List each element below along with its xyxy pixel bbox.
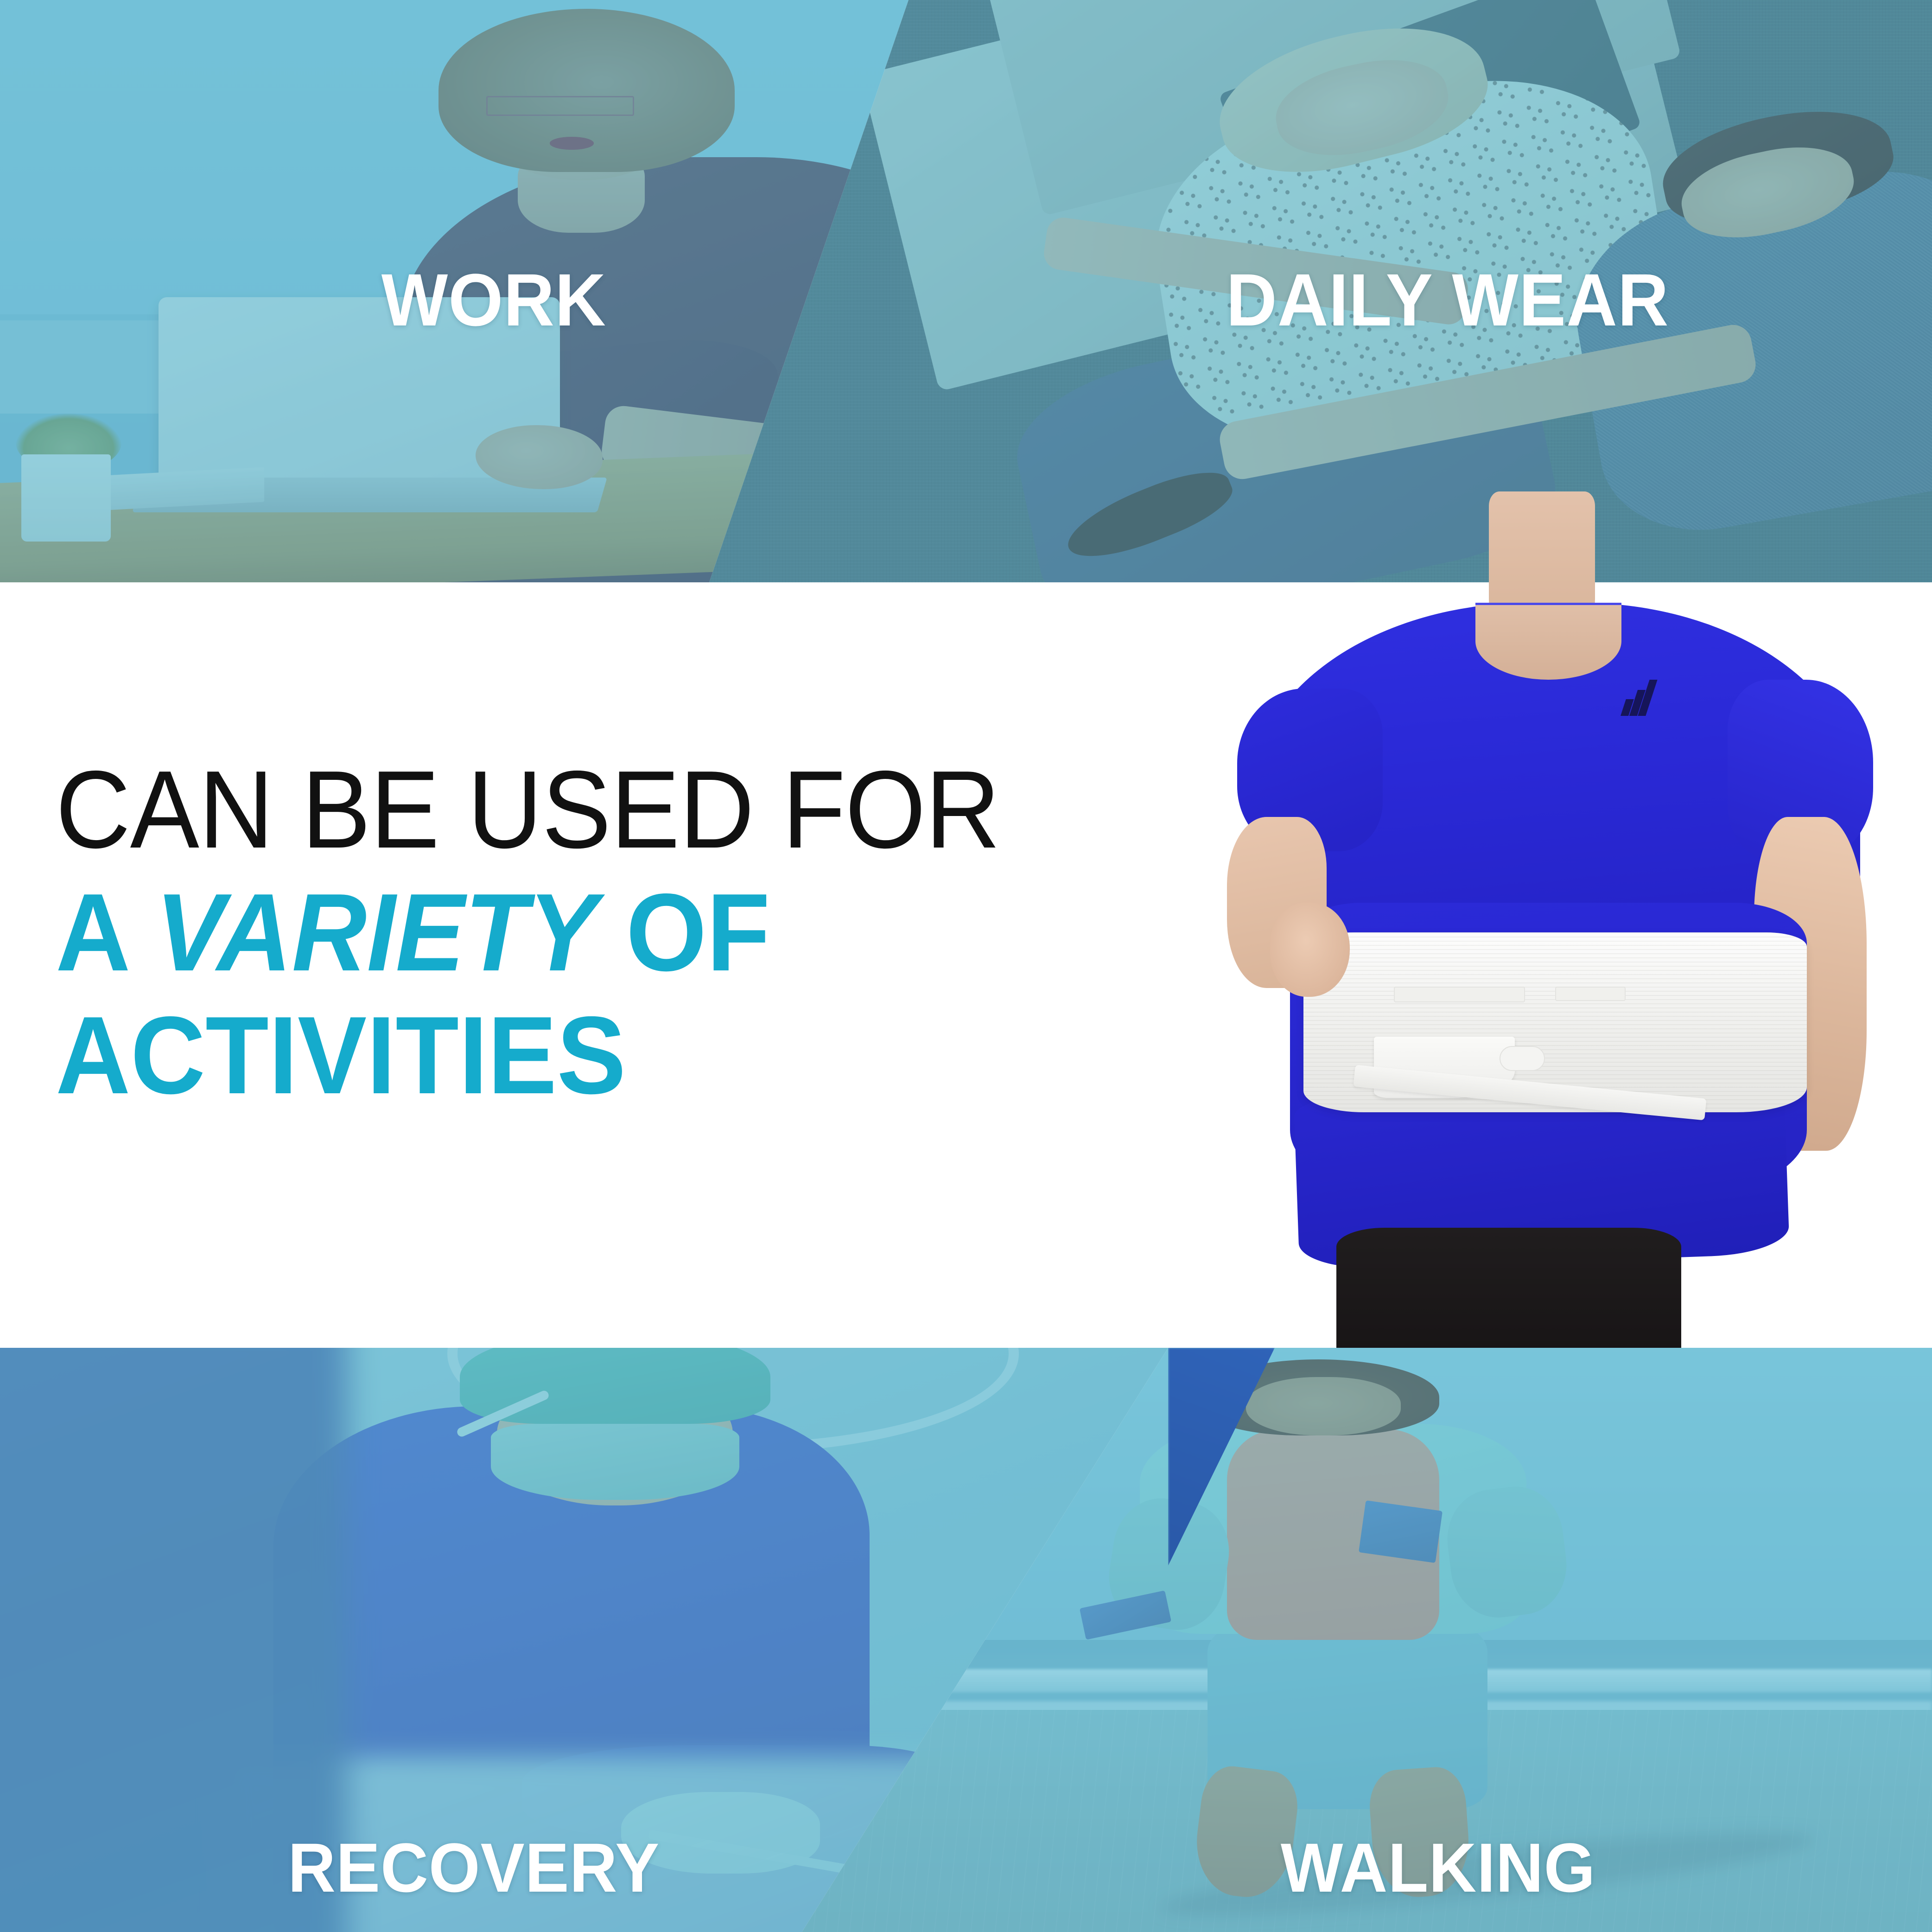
model-leggings <box>1336 1228 1681 1348</box>
caption-daily-wear: DAILY WEAR <box>1226 257 1669 343</box>
marketing-graphic: WORK DAILY WEAR CAN BE USED FOR A VARIET… <box>0 0 1932 1932</box>
headline-line-2-pre: A <box>56 871 155 994</box>
adidas-logo-icon <box>1621 680 1665 716</box>
brace-velcro-panel <box>1394 987 1525 1003</box>
caption-walking: WALKING <box>1281 1828 1596 1908</box>
headline-line-1: CAN BE USED FOR <box>56 754 1145 867</box>
bottom-panel-row: RECOVERY WALKING <box>0 1348 1932 1932</box>
lumbar-back-brace <box>1303 932 1807 1112</box>
caption-recovery: RECOVERY <box>288 1828 660 1908</box>
caption-work: WORK <box>381 257 606 343</box>
model-hand-left <box>1270 903 1350 997</box>
headline-line-2-italic: VARIETY <box>155 871 597 994</box>
headline-block: CAN BE USED FOR A VARIETY OF ACTIVITIES <box>56 754 1214 1112</box>
product-photo-back-brace[interactable] <box>1224 491 1887 1348</box>
brace-velcro-panel-2 <box>1555 987 1626 1001</box>
headline-line-2-post: OF <box>597 871 770 994</box>
headline-line-3: ACTIVITIES <box>56 1000 1145 1112</box>
shirt-collar <box>1475 603 1621 680</box>
brace-pull-tab <box>1500 1046 1545 1071</box>
headline-line-2: A VARIETY OF <box>56 877 1145 989</box>
